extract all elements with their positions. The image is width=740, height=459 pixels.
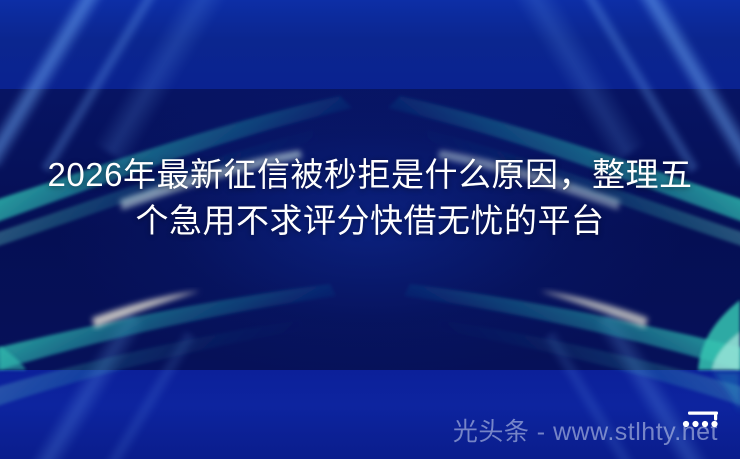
page-title: 2026年最新征信被秒拒是什么原因，整理五个急用不求评分快借无忧的平台 bbox=[0, 152, 740, 244]
site-watermark: 光头条 - www.stlhty.net bbox=[453, 417, 718, 447]
background-band-top bbox=[0, 0, 740, 89]
article-cover-banner: 2026年最新征信被秒拒是什么原因，整理五个急用不求评分快借无忧的平台 光头条 … bbox=[0, 0, 740, 459]
